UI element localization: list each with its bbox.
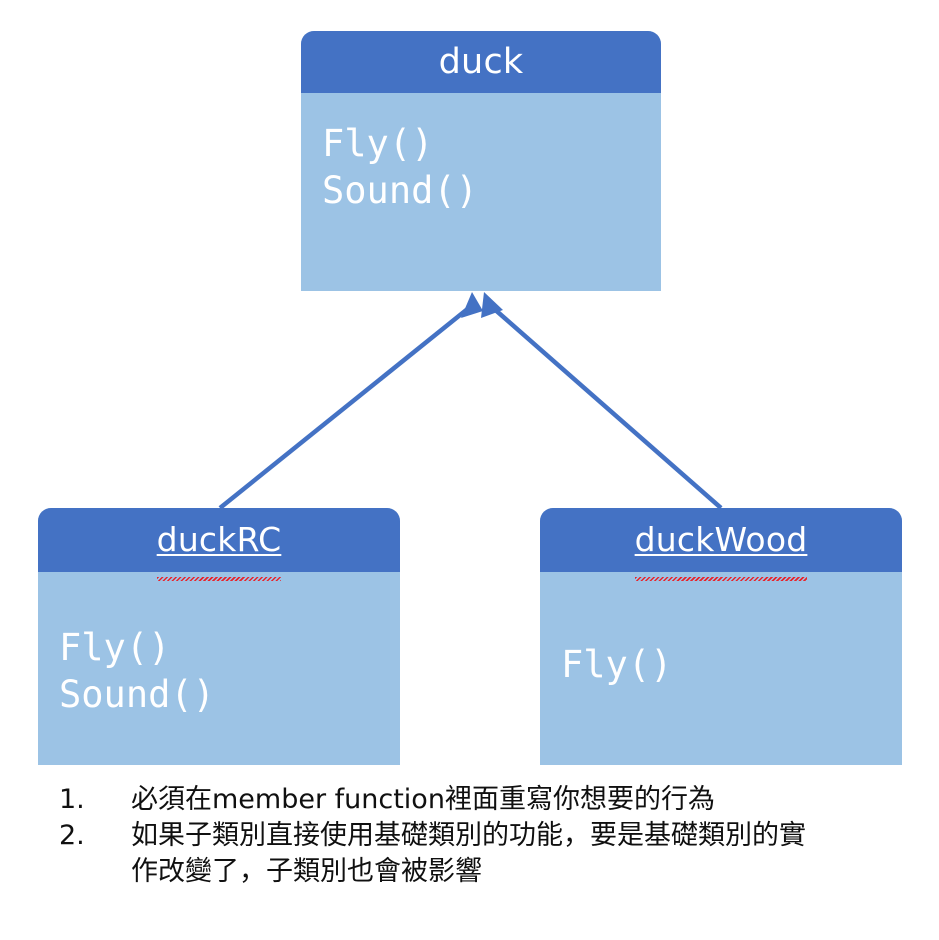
class-title-duckwood-label: duckWood	[635, 508, 808, 572]
class-title-duckwood: duckWood	[540, 508, 902, 572]
arrowhead-duckrc	[461, 292, 483, 318]
class-members-duckrc: Fly() Sound()	[38, 572, 400, 719]
connector-line-duckwood	[492, 307, 721, 508]
note-text-2: 如果子類別直接使用基礎類別的功能，要是基礎類別的實作改變了，子類別也會被影響	[131, 818, 831, 890]
class-title-duck: duck	[301, 31, 661, 93]
notes-list: 1. 必須在member function裡面重寫你想要的行為 2. 如果子類別…	[47, 782, 927, 890]
class-title-duckrc-label: duckRC	[157, 508, 282, 572]
arrowhead-duckwood	[481, 292, 503, 318]
class-title-duckrc: duckRC	[38, 508, 400, 572]
note-item-2: 2. 如果子類別直接使用基礎類別的功能，要是基礎類別的實作改變了，子類別也會被影…	[47, 818, 927, 890]
note-marker-1: 1.	[47, 782, 131, 818]
class-box-duckrc[interactable]: duckRC Fly() Sound()	[38, 508, 400, 765]
class-box-duck[interactable]: duck Fly() Sound()	[301, 31, 661, 291]
note-marker-2: 2.	[47, 818, 131, 854]
note-text-1: 必須在member function裡面重寫你想要的行為	[131, 782, 831, 818]
class-members-duckwood: Fly()	[540, 572, 902, 688]
diagram-canvas: duck Fly() Sound() duckRC Fly() Sound() …	[0, 0, 939, 940]
class-members-duck: Fly() Sound()	[301, 93, 661, 215]
class-box-duckwood[interactable]: duckWood Fly()	[540, 508, 902, 765]
note-item-1: 1. 必須在member function裡面重寫你想要的行為	[47, 782, 927, 818]
class-title-duck-label: duck	[439, 31, 524, 93]
connector-line-duckrc	[220, 307, 470, 508]
